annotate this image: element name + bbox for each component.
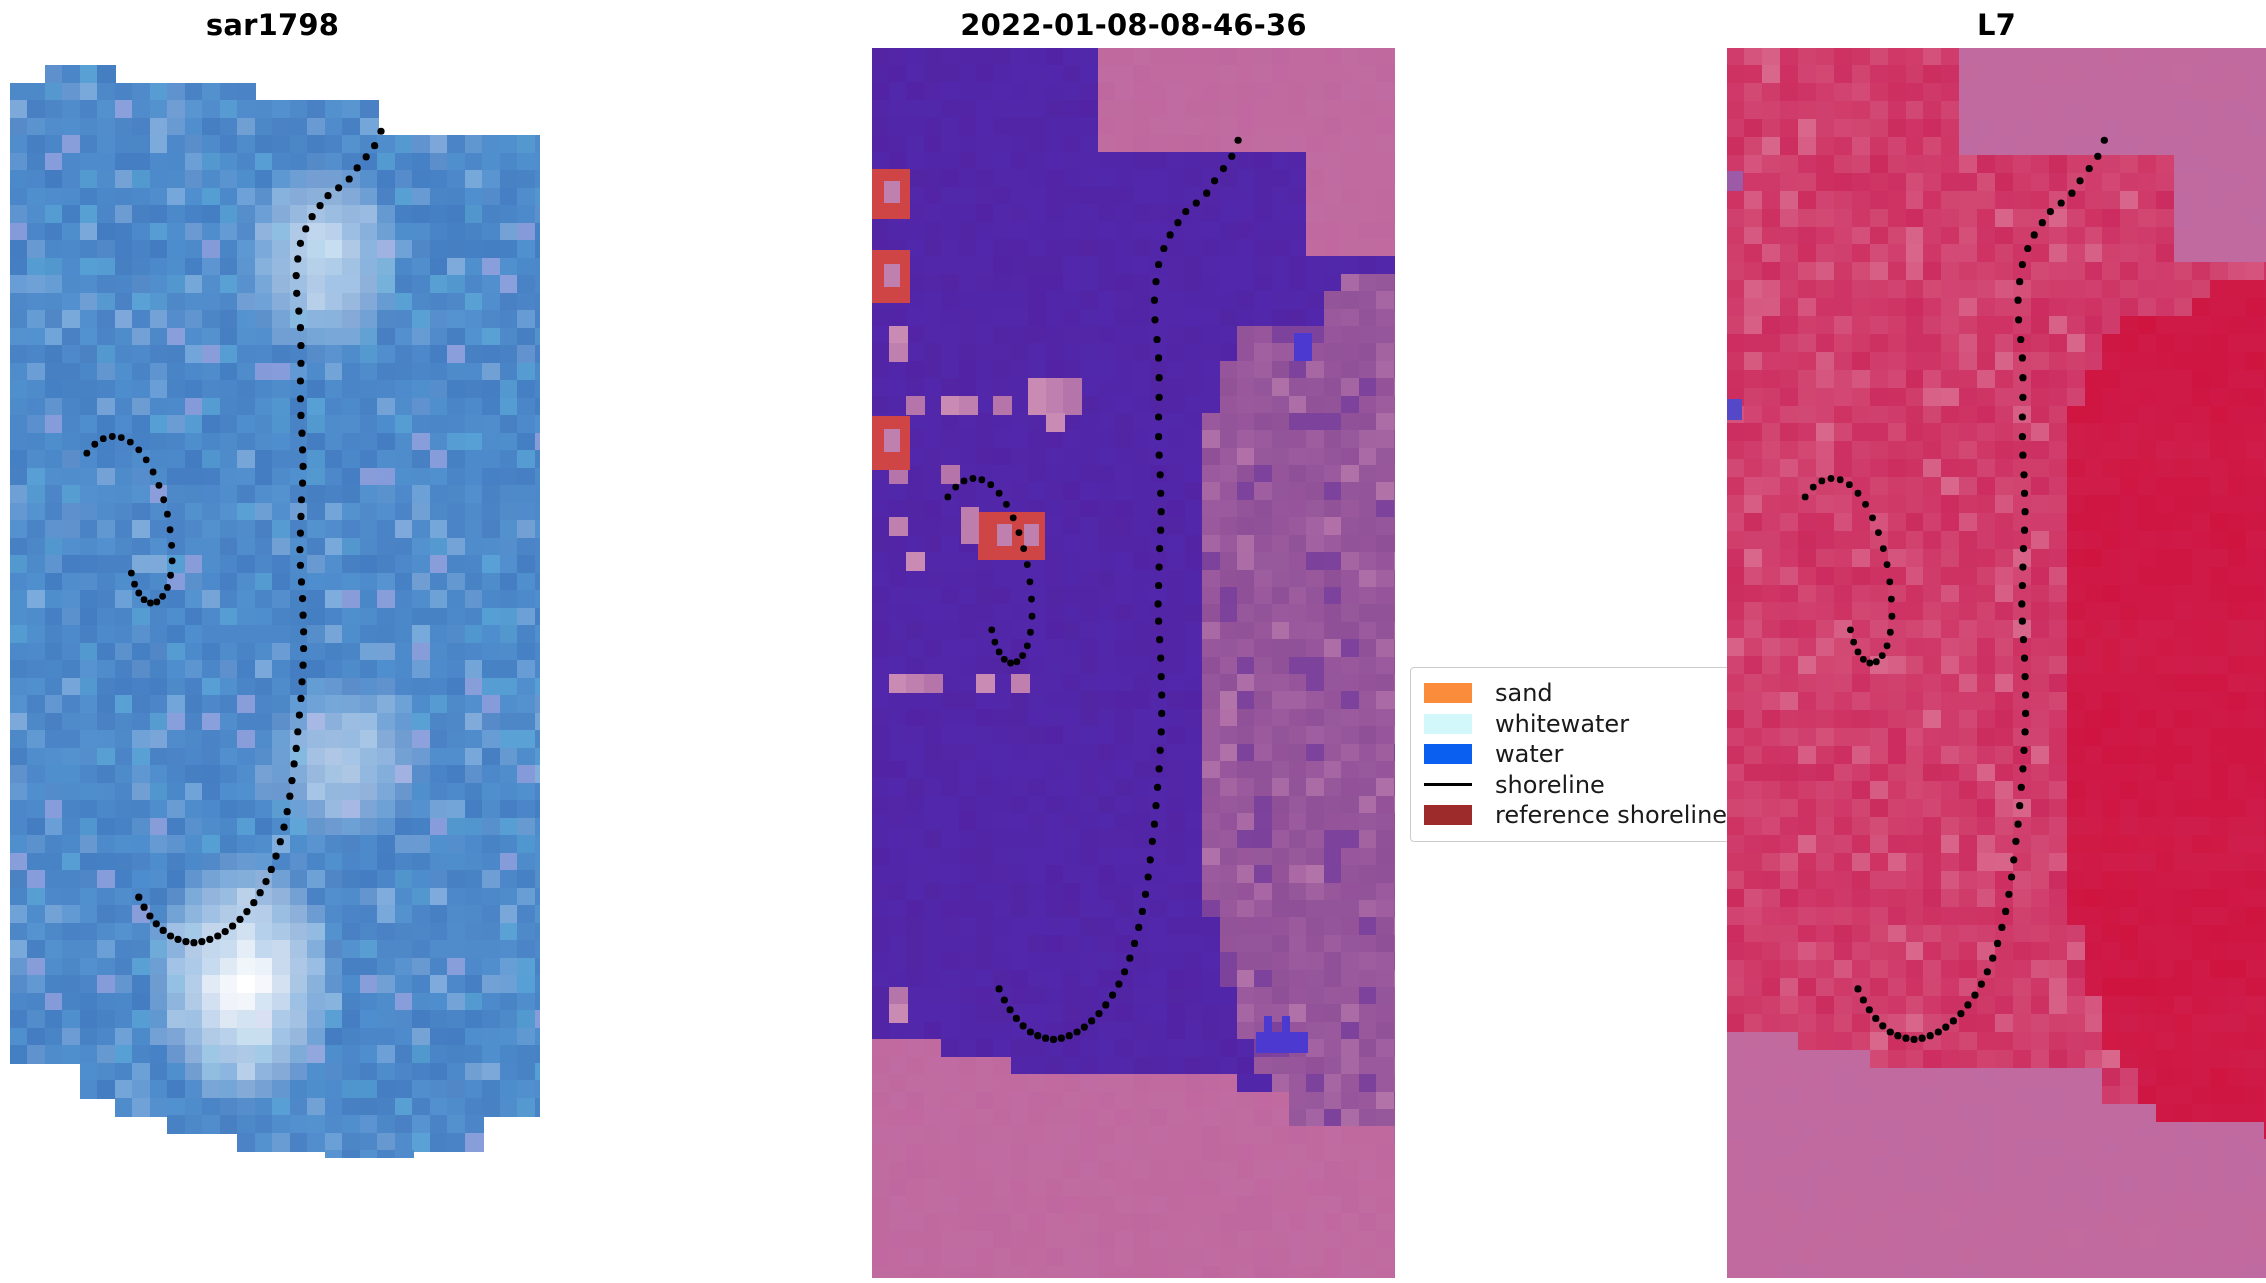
legend-label-sand: sand — [1495, 681, 1553, 705]
legend-item-sand: sand — [1424, 678, 1719, 709]
sand-swatch-icon — [1424, 683, 1472, 703]
classified-raster-image — [872, 48, 1395, 1278]
legend-item-whitewater: whitewater — [1424, 709, 1719, 740]
panel-sar1798[interactable] — [10, 48, 540, 1158]
legend-item-water: water — [1424, 739, 1719, 770]
panel-classified-2022-01-08[interactable] — [872, 48, 1395, 1278]
panel-title-l7: L7 — [1727, 8, 2266, 42]
shoreline-line-icon — [1424, 775, 1472, 795]
panel-l7[interactable] — [1727, 48, 2266, 1278]
legend-box: sand whitewater water shoreline referenc… — [1410, 667, 1732, 842]
whitewater-swatch-icon — [1424, 714, 1472, 734]
legend-label-whitewater: whitewater — [1495, 712, 1629, 736]
panel-title-classified: 2022-01-08-08-46-36 — [872, 8, 1395, 42]
legend-item-shoreline: shoreline — [1424, 770, 1719, 801]
figure-canvas: sar1798 2022-01-08-08-46-36 L7 sand whit… — [0, 0, 2266, 1283]
panel-title-sar: sar1798 — [0, 8, 545, 42]
sar-raster-image — [10, 48, 540, 1158]
legend-item-reference-shoreline-buffer: reference shoreline buffer — [1424, 800, 1719, 831]
legend-label-shoreline: shoreline — [1495, 773, 1605, 797]
legend-label-water: water — [1495, 742, 1563, 766]
water-swatch-icon — [1424, 744, 1472, 764]
reference-shoreline-buffer-swatch-icon — [1424, 805, 1472, 825]
l7-raster-image — [1727, 48, 2266, 1278]
